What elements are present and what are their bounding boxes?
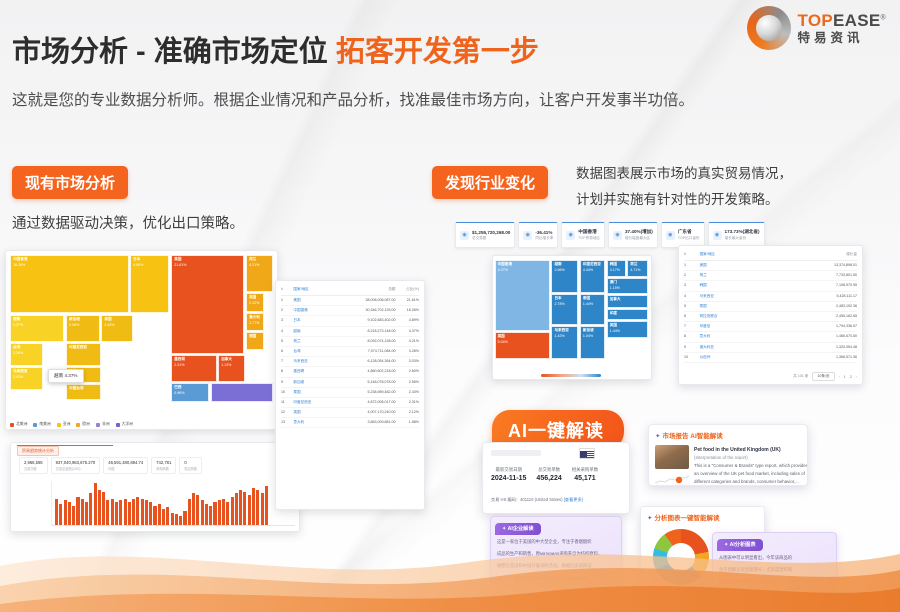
- table-cell: 印度尼: [700, 324, 795, 329]
- table-cell: 越南: [293, 329, 348, 334]
- legend-label: 欧洲: [82, 422, 90, 427]
- bar[interactable]: [248, 495, 251, 525]
- table-cell: 16.26%: [396, 308, 419, 313]
- pagination-pagesize[interactable]: 10条/页: [812, 372, 834, 381]
- table-cell: 中国香港: [293, 308, 348, 313]
- ai-report-card-title: 市场报告 AI智能解读: [662, 433, 722, 440]
- treemap-cell-value: 2.56%: [69, 323, 79, 327]
- treemap-cell-label: 印度: [610, 311, 617, 316]
- treemap-cell[interactable]: 墨西哥2.31%: [171, 355, 217, 382]
- kpi-card[interactable]: ◉37.40%(增加)增长幅度最大区: [608, 222, 658, 248]
- treemap-colorbar: [541, 374, 601, 377]
- bar[interactable]: [72, 506, 75, 525]
- treemap-cell-label: 越南: [13, 317, 20, 322]
- legend-item[interactable]: 大洋洲: [116, 422, 133, 427]
- treemap-cell[interactable]: 美国21.61%: [171, 255, 244, 355]
- table-cell: 以色列: [700, 355, 795, 360]
- transaction-metric-label: 相关采购单数: [572, 467, 598, 473]
- treemap-cell-label: 英国: [610, 323, 617, 328]
- table-cell: 9: [684, 345, 700, 350]
- legend-swatch: [57, 423, 61, 427]
- treemap-cell[interactable]: 荷兰4.21%: [246, 255, 273, 292]
- legend-swatch: [33, 423, 37, 427]
- bar[interactable]: [192, 493, 195, 525]
- table-row[interactable]: 5泰国2,483,192.36: [684, 302, 857, 312]
- table-row[interactable]: 2中国香港30,346,702,125.0016.26%: [281, 306, 419, 316]
- treemap-cell-value: 16.26%: [13, 263, 25, 267]
- kpi-value: -36.41%: [535, 230, 553, 235]
- clock-icon: ◉: [523, 231, 532, 240]
- pagination-prev-icon[interactable]: ‹: [839, 375, 840, 379]
- table-cell: 意大利: [293, 420, 348, 425]
- bar[interactable]: [265, 486, 268, 525]
- table-row[interactable]: 8墨西哥4,860,602,218.002.60%: [281, 367, 419, 377]
- sparkle-icon: ✦: [502, 526, 506, 532]
- treemap-cell[interactable]: 日本4.89%: [130, 255, 169, 314]
- treemap-cell-value: 2.31%: [174, 363, 184, 367]
- ai-company-body-1: 这是一家位于美国的中大型企业，专注于香烟烟织: [491, 538, 621, 550]
- treemap-cell[interactable]: 美国5.04%: [495, 332, 550, 359]
- treemap-cell[interactable]: 巴西0.96%: [171, 383, 209, 403]
- bar[interactable]: [171, 513, 174, 525]
- table-cell: 泰国: [293, 390, 348, 395]
- treemap-legend: 北美洲南美洲亚洲欧洲非洲大洋洲: [10, 422, 133, 427]
- stat-value: 937,040,983,675.270: [56, 460, 96, 465]
- treemap-cell-label: 意大利: [249, 315, 260, 320]
- bar[interactable]: [256, 490, 259, 525]
- table-cell: 1: [684, 263, 700, 268]
- treemap-cell-value: 1.13%: [221, 363, 231, 367]
- table-row[interactable]: 6台湾7,074,711,084.003.26%: [281, 347, 419, 357]
- treemap-cell-label: 新加坡: [69, 317, 80, 322]
- table-row[interactable]: 9新加坡5,146,078,078.002.56%: [281, 378, 419, 388]
- stat-label: 均值: [108, 466, 143, 471]
- ai-chart-purple-body-1: 从图表中可以明显看出，今年该商品的: [713, 554, 836, 566]
- bar[interactable]: [226, 502, 229, 525]
- trade-trend-tab[interactable]: 贸易趋势统计分析: [17, 446, 59, 456]
- bar[interactable]: [162, 509, 165, 525]
- bar[interactable]: [196, 495, 199, 525]
- legend-item[interactable]: 南美洲: [33, 422, 50, 427]
- table-cell: 5: [281, 339, 293, 344]
- table-cell: 2.60%: [396, 369, 419, 374]
- bar[interactable]: [141, 499, 144, 525]
- treemap-cell[interactable]: 马来西亚1.42%: [551, 326, 578, 359]
- table-cell: 1,366,571.36: [795, 355, 857, 360]
- bar[interactable]: [68, 502, 71, 525]
- chart-icon: ◉: [613, 231, 622, 240]
- treemap-cell[interactable]: 澳门1.15%: [607, 278, 648, 294]
- bar[interactable]: [106, 500, 109, 525]
- table-cell: 美国: [700, 263, 795, 268]
- pagination-page-2[interactable]: 2: [850, 375, 852, 379]
- treemap-cell[interactable]: 加拿大: [607, 295, 648, 307]
- cool-treemap[interactable]: 中国香港4.27%美国5.04%越南2.66%日本2.78%马来西亚1.42%印…: [493, 256, 651, 379]
- table-cell: 澳大利亚: [700, 345, 795, 350]
- table-cell: 2,455,162.65: [795, 314, 857, 319]
- bar[interactable]: [235, 493, 238, 525]
- table-row[interactable]: 13意大利3,863,009,881.001.88%: [281, 418, 419, 428]
- table-cell: 4.21%: [396, 339, 419, 344]
- table-row[interactable]: 4越南8,218,273,148.004.37%: [281, 327, 419, 337]
- treemap-cell[interactable]: 新加坡1.04%: [580, 326, 605, 359]
- ai-chart-purple-body-2: 总交易额呈现显著增长，尤其是塑料制: [713, 566, 836, 578]
- treemap-cell[interactable]: 泰国1.44%: [580, 294, 605, 325]
- treemap-cell-value: 2.78%: [554, 302, 564, 306]
- treemap-cell[interactable]: 英国1.44%: [607, 321, 648, 338]
- table-row[interactable]: 11印度尼西亚4,872,008,017.002.31%: [281, 398, 419, 408]
- table-cell: 7,074,711,084.00: [349, 349, 396, 354]
- table-cell: 1,794,336.57: [795, 324, 857, 329]
- treemap-cell-value: 2.43%: [104, 323, 114, 327]
- table-cell: 2.31%: [396, 400, 419, 405]
- bar[interactable]: [222, 499, 225, 525]
- transaction-metric: 最新交易日期2024-11-15: [491, 467, 526, 482]
- section-line-left: 通过数据驱动决策，优化出口策略。: [12, 212, 244, 233]
- treemap-cell-value: 1.15%: [610, 286, 620, 290]
- treemap-cell-value: 4.27%: [498, 268, 508, 272]
- growth-table-panel: #国家/地区增长量1美国13,374,898.012荷兰7,733,801.50…: [678, 245, 863, 385]
- tab-underline: [17, 445, 113, 446]
- treemap-cell-label: 泰国: [583, 296, 590, 301]
- bar[interactable]: [115, 502, 118, 525]
- ai-company-card-header: ✦ AI企业解读: [495, 523, 541, 535]
- transaction-metric-value: 456,224: [536, 475, 561, 482]
- ai-report-body-3: different categories and brands, consume…: [694, 478, 799, 486]
- table-cell: 5: [684, 304, 700, 309]
- kpi-label: 增长最大省份: [725, 236, 760, 241]
- bar[interactable]: [183, 511, 186, 525]
- table-row[interactable]: 2荷兰7,733,801.50: [684, 271, 857, 281]
- table-column-header[interactable]: 占比(%): [396, 287, 419, 292]
- kpi-card[interactable]: ◉$1,255,720,268.00总交易额: [455, 222, 515, 248]
- treemap-cell[interactable]: 中国香港16.26%: [10, 255, 129, 314]
- table-header-row: #国家/地区增长量: [684, 250, 857, 261]
- treemap-cell-label: 印度尼西亚: [583, 262, 601, 267]
- table-cell: 泰国: [700, 304, 795, 309]
- bar[interactable]: [209, 506, 212, 525]
- table-row[interactable]: 4马来西亚5,428,111.17: [684, 292, 857, 302]
- legend-item[interactable]: 北美洲: [10, 422, 27, 427]
- pagination-page-1[interactable]: 1: [844, 375, 846, 379]
- info-icon: ◉: [460, 231, 469, 240]
- dog-photo-thumbnail: [655, 445, 689, 469]
- table-cell: 新加坡: [293, 380, 348, 385]
- table-row[interactable]: 1美国13,374,898.01: [684, 261, 857, 271]
- treemap-cell[interactable]: 荷兰4.71%: [627, 260, 648, 277]
- sparkle-icon: ✦: [655, 433, 660, 440]
- table-cell: 马来西亚: [700, 294, 795, 299]
- bar[interactable]: [179, 516, 182, 525]
- bar[interactable]: [119, 500, 122, 525]
- bar[interactable]: [98, 490, 101, 525]
- table-cell: 38,008,008,087.00: [349, 298, 396, 303]
- trend-icon: ◉: [713, 231, 722, 240]
- bar[interactable]: [55, 499, 58, 525]
- bar[interactable]: [136, 497, 139, 525]
- treemap-cell[interactable]: 台湾3.26%: [10, 343, 43, 366]
- legend-label: 非洲: [102, 422, 110, 427]
- treemap-cell-label: 马来西亚: [554, 328, 568, 333]
- bar[interactable]: [85, 502, 88, 525]
- treemap-cell[interactable]: 新加坡2.56%: [66, 315, 100, 342]
- table-cell: 英国: [293, 410, 348, 415]
- table-column-header[interactable]: 增长量: [795, 252, 857, 257]
- treemap-cell-label: 英国: [249, 295, 256, 300]
- treemap-cell-label: 泰国: [104, 317, 111, 322]
- table-row[interactable]: 10泰国5,238,989,482.002.43%: [281, 388, 419, 398]
- kpi-text: $1,255,720,268.00总交易额: [472, 230, 510, 241]
- treemap-cell-value: 21.61%: [174, 263, 186, 267]
- treemap-cell-label: 荷兰: [249, 257, 256, 262]
- table-row[interactable]: 9澳大利亚1,320,054.48: [684, 343, 857, 353]
- legend-label: 大洋洲: [122, 422, 133, 427]
- treemap-cell[interactable]: 印度: [607, 309, 648, 320]
- table-cell: 4: [281, 329, 293, 334]
- legend-swatch: [96, 423, 100, 427]
- section-tag-right: 发现行业变化: [432, 166, 548, 199]
- treemap-cell-label: 巴西: [174, 385, 181, 390]
- bar[interactable]: [205, 504, 208, 525]
- kpi-value: 广东省: [678, 229, 700, 235]
- table-row[interactable]: 3韩国7,108,970.55: [684, 281, 857, 291]
- kpi-text: 广东省TOP出口省份: [678, 229, 700, 241]
- table-cell: 8,092,074,128.00: [349, 339, 396, 344]
- stat-value: 46,591,480,884.74: [108, 460, 143, 465]
- bar[interactable]: [201, 500, 204, 525]
- table-cell: 1,466,670.50: [795, 334, 857, 339]
- kpi-label: 增长幅度最大区: [625, 236, 653, 241]
- treemap-cell[interactable]: 意大利1.77%: [246, 313, 264, 331]
- stat-box: 937,040,983,675.270交易总金额(USD): [51, 457, 101, 474]
- ai-chart-purple-body-3: 品和小型机械产品这两个板块……: [713, 578, 836, 590]
- transaction-metric: 相关采购单数45,171: [572, 467, 598, 482]
- treemap-cell[interactable]: 英国2.12%: [246, 293, 264, 313]
- table-column-header[interactable]: 国家/地区: [293, 287, 348, 292]
- table-header-row: #国家/地区总额占比(%): [281, 285, 419, 296]
- kpi-text: 173.73%(湖北省)增长最大省份: [725, 229, 760, 241]
- warm-treemap-panel: 中国香港16.26%日本4.89%美国21.61%荷兰4.21%越南4.37%新…: [5, 250, 278, 430]
- section-para-right-1: 数据图表展示市场的真实贸易情况，: [576, 162, 792, 186]
- treemap-cell-value: 4.71%: [630, 268, 640, 272]
- logo-registered-mark: ®: [881, 14, 886, 21]
- kpi-card[interactable]: ◉中国香港TOP贸易地区: [561, 222, 605, 248]
- table-cell: 2.56%: [396, 380, 419, 385]
- ai-company-body-4: 录分析，每年的5月至8月为其显著的采购高峰期……: [491, 575, 621, 587]
- pagination-next-icon[interactable]: ›: [856, 375, 857, 379]
- bar[interactable]: [243, 492, 246, 525]
- table-cell: 日本: [293, 318, 348, 323]
- treemap-cell[interactable]: 中国香港4.27%: [495, 260, 550, 331]
- table-cell: 马来西亚: [293, 359, 348, 364]
- stat-strip: 2,966,595交易次数937,040,983,675.270交易总金额(US…: [19, 457, 202, 474]
- table-row[interactable]: 6阿拉伯联合2,455,162.65: [684, 312, 857, 322]
- table-cell: 9: [281, 380, 293, 385]
- table-row[interactable]: 7印度尼1,794,336.57: [684, 322, 857, 332]
- donut-chart[interactable]: [653, 529, 709, 585]
- treemap-cell-label: 加拿大: [221, 357, 232, 362]
- ai-chart-purple-header: ✦ AI分析图表: [717, 539, 763, 551]
- stat-box: 742,781采购商数: [151, 457, 176, 474]
- kpi-value: 中国香港: [578, 229, 600, 235]
- treemap-cell[interactable]: 泰国2.43%: [101, 315, 132, 342]
- bar[interactable]: [213, 502, 216, 525]
- trade-trend-panel: 贸易趋势统计分析 2,966,595交易次数937,040,983,675.27…: [10, 442, 300, 532]
- bar[interactable]: [76, 497, 79, 525]
- table-cell: 荷兰: [293, 339, 348, 344]
- legend-item[interactable]: 亚洲: [57, 422, 71, 427]
- bar[interactable]: [158, 504, 161, 525]
- treemap-cell[interactable]: 越南2.66%: [551, 260, 578, 293]
- stat-box: 0供应商数: [179, 457, 202, 474]
- bar[interactable]: [252, 488, 255, 525]
- kpi-text: 37.40%(增加)增长幅度最大区: [625, 229, 653, 241]
- transaction-columns: 最新交易日期2024-11-15总交易单数456,224相关采购单数45,171: [491, 467, 598, 482]
- treemap-cell-label: 美国: [498, 334, 505, 339]
- treemap-cell-value: 4.44%: [583, 268, 593, 272]
- bar[interactable]: [261, 493, 264, 525]
- treemap-cell[interactable]: [211, 383, 273, 403]
- table-cell: 4: [684, 294, 700, 299]
- table-cell: 2: [281, 308, 293, 313]
- treemap-cell-value: 0.96%: [174, 391, 184, 395]
- table-column-header[interactable]: 国家/地区: [700, 252, 795, 257]
- table-row[interactable]: 8意大利1,466,670.50: [684, 332, 857, 342]
- table-column-header[interactable]: #: [684, 252, 700, 257]
- kpi-value: 37.40%(增加): [625, 229, 653, 235]
- us-flag-icon: [579, 448, 595, 459]
- bar-chart-bars[interactable]: [55, 481, 268, 525]
- bar[interactable]: [81, 499, 84, 525]
- treemap-cell-value: 1.77%: [249, 321, 259, 325]
- treemap-cell-value: 4.37%: [13, 323, 23, 327]
- table-cell: 6: [684, 314, 700, 319]
- bar[interactable]: [166, 507, 169, 525]
- treemap-cell-label: 越南: [554, 262, 561, 267]
- treemap-cell[interactable]: 日本2.78%: [551, 294, 578, 325]
- sparkle-icon: ✦: [724, 542, 728, 548]
- table-cell: 4.89%: [396, 318, 419, 323]
- treemap-cell[interactable]: 马来西亚3.03%: [10, 367, 43, 390]
- table-cell: 1,320,054.48: [795, 345, 857, 350]
- bar[interactable]: [145, 500, 148, 525]
- bar[interactable]: [188, 499, 191, 525]
- table-column-header[interactable]: #: [281, 287, 293, 292]
- ai-report-card-header: ✦市场报告 AI智能解读: [649, 425, 807, 443]
- table-cell: 5,238,989,482.00: [349, 390, 396, 395]
- stat-box: 2,966,595交易次数: [19, 457, 48, 474]
- treemap-cell[interactable]: 中国台湾: [66, 384, 101, 400]
- legend-item[interactable]: 非洲: [96, 422, 110, 427]
- brand-logo: TOPEASE® 特易资讯: [747, 6, 886, 50]
- bar[interactable]: [175, 514, 178, 525]
- table-cell: 台湾: [293, 349, 348, 354]
- treemap-cell-value: 3.26%: [13, 351, 23, 355]
- rank-table-panel: #国家/地区总额占比(%)1美国38,008,008,087.0021.61%2…: [275, 280, 425, 510]
- treemap-cell-label: 台湾: [13, 345, 20, 350]
- hs-code-link[interactable]: [查看更多]: [564, 497, 583, 502]
- table-row[interactable]: 7马来西亚6,128,054,364.003.03%: [281, 357, 419, 367]
- treemap-cell-value: 2.66%: [554, 268, 564, 272]
- table-cell: 墨西哥: [293, 369, 348, 374]
- treemap-cell-label: 中国香港: [13, 257, 27, 262]
- bar[interactable]: [124, 499, 127, 525]
- bar[interactable]: [239, 490, 242, 525]
- section-tag-left: 现有市场分析: [12, 166, 128, 199]
- bar[interactable]: [59, 504, 62, 525]
- treemap-cell-label: 马来西亚: [13, 369, 27, 374]
- stat-value: 742,781: [156, 460, 171, 465]
- table-cell: 8,218,273,148.00: [349, 329, 396, 334]
- treemap-cell[interactable]: 德国: [246, 332, 264, 350]
- legend-item[interactable]: 欧洲: [76, 422, 90, 427]
- hs-code-value: 401110 (United States): [520, 497, 562, 502]
- table-cell: 2,483,192.36: [795, 304, 857, 309]
- table-cell: 6: [281, 349, 293, 354]
- page-title-highlight: 拓客开发第一步: [336, 36, 539, 68]
- treemap-cell[interactable]: 韩国4.17%: [607, 260, 626, 277]
- table-row[interactable]: 1美国38,008,008,087.0021.61%: [281, 296, 419, 306]
- bar[interactable]: [64, 500, 67, 525]
- stat-label: 交易次数: [24, 466, 43, 471]
- bar[interactable]: [153, 506, 156, 525]
- bar[interactable]: [231, 497, 234, 525]
- kpi-text: -36.41%同比增长率: [535, 230, 553, 241]
- table-cell: 6,128,054,364.00: [349, 359, 396, 364]
- page-title-main: 市场分析 - 准确市场定位: [12, 36, 336, 68]
- treemap-cell-label: 加拿大: [610, 297, 621, 302]
- bar[interactable]: [89, 493, 92, 525]
- bar[interactable]: [94, 483, 97, 525]
- table-row[interactable]: 5荷兰8,092,074,128.004.21%: [281, 337, 419, 347]
- ai-company-header-text: AI企业解读: [508, 526, 534, 532]
- treemap-cell[interactable]: 越南4.37%: [10, 315, 64, 342]
- treemap-tooltip: 越南 4.37%: [48, 369, 84, 383]
- stat-box: 46,591,480,884.74均值: [103, 457, 148, 474]
- warm-treemap[interactable]: 中国香港16.26%日本4.89%美国21.61%荷兰4.21%越南4.37%新…: [6, 251, 277, 429]
- treemap-cell-value: 1.44%: [583, 302, 593, 306]
- kpi-card[interactable]: ◉-36.41%同比增长率: [518, 222, 558, 248]
- table-row[interactable]: 3日本9,102,683,402.004.89%: [281, 316, 419, 326]
- bar[interactable]: [111, 499, 114, 525]
- bar[interactable]: [102, 492, 105, 525]
- treemap-cell[interactable]: 加拿大1.13%: [218, 355, 245, 382]
- bar[interactable]: [132, 499, 135, 525]
- table-cell: 1: [281, 298, 293, 303]
- table-row[interactable]: 12英国4,007,170,240.002.12%: [281, 408, 419, 418]
- table-row[interactable]: 10以色列1,366,571.36: [684, 353, 857, 363]
- table-cell: 10: [281, 390, 293, 395]
- treemap-cell[interactable]: 印度尼西亚4.44%: [580, 260, 605, 293]
- table-pagination[interactable]: 共 101 条 10条/页 ‹ 1 2 ›: [793, 372, 857, 381]
- table-cell: 1.88%: [396, 420, 419, 425]
- bar[interactable]: [218, 500, 221, 525]
- table-column-header[interactable]: 总额: [349, 287, 396, 292]
- table-cell: 3.03%: [396, 359, 419, 364]
- table-cell: 2.43%: [396, 390, 419, 395]
- rank-table[interactable]: #国家/地区总额占比(%)1美国38,008,008,087.0021.61%2…: [276, 281, 424, 509]
- bar[interactable]: [149, 502, 152, 525]
- table-cell: 13,374,898.01: [795, 263, 857, 268]
- table-cell: 8: [684, 334, 700, 339]
- treemap-cell[interactable]: 印度尼西亚: [66, 343, 101, 366]
- bar[interactable]: [128, 502, 131, 525]
- ai-company-card: ✦ AI企业解读 这是一家位于美国的中大型企业，专注于香烟烟织 成品的生产和销售…: [490, 516, 622, 584]
- growth-table[interactable]: #国家/地区增长量1美国13,374,898.012荷兰7,733,801.50…: [679, 246, 862, 384]
- treemap-cell-label: 德国: [249, 334, 256, 339]
- transaction-card: 最新交易日期2024-11-15总交易单数456,224相关采购单数45,171…: [482, 442, 630, 514]
- table-cell: 21.61%: [396, 298, 419, 303]
